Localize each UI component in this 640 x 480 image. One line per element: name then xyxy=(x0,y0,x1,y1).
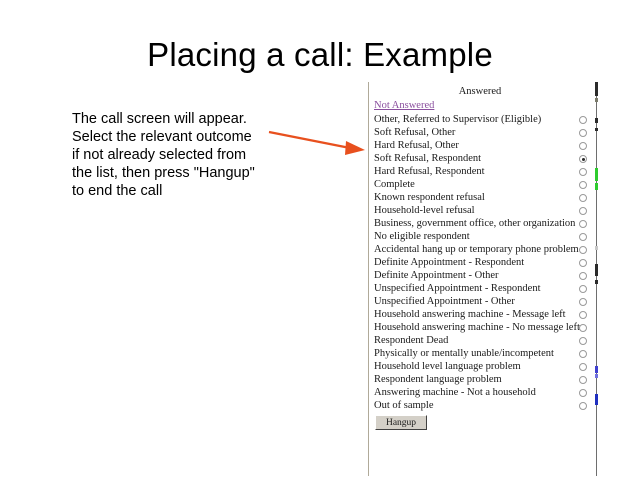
outcome-radio[interactable] xyxy=(579,337,587,345)
outcome-radio[interactable] xyxy=(579,402,587,410)
outcome-radio[interactable] xyxy=(579,350,587,358)
outcome-label: Respondent language problem xyxy=(374,373,502,386)
outcome-radio[interactable] xyxy=(579,376,587,384)
outcome-row[interactable]: Household level language problem xyxy=(369,360,597,373)
edge-fragment xyxy=(595,366,598,373)
outcome-radio[interactable] xyxy=(579,259,587,267)
edge-fragment xyxy=(595,118,598,123)
outcome-row[interactable]: Definite Appointment - Other xyxy=(369,269,597,282)
edge-fragment xyxy=(595,183,598,190)
outcome-label: Soft Refusal, Respondent xyxy=(374,152,481,165)
outcome-label: Other, Referred to Supervisor (Eligible) xyxy=(374,113,541,126)
outcome-radio[interactable] xyxy=(579,181,587,189)
outcome-row[interactable]: Other, Referred to Supervisor (Eligible) xyxy=(369,113,597,126)
outcome-radio[interactable] xyxy=(579,246,587,254)
outcome-row[interactable]: Household-level refusal xyxy=(369,204,597,217)
outcome-radio[interactable] xyxy=(579,363,587,371)
outcome-row[interactable]: Physically or mentally unable/incompeten… xyxy=(369,347,597,360)
outcome-radio[interactable] xyxy=(579,285,587,293)
outcome-radio[interactable] xyxy=(579,389,587,397)
outcome-row[interactable]: Respondent language problem xyxy=(369,373,597,386)
not-answered-link[interactable]: Not Answered xyxy=(374,100,434,111)
outcome-label: Physically or mentally unable/incompeten… xyxy=(374,347,554,360)
outcome-radio[interactable] xyxy=(579,116,587,124)
outcome-list: Other, Referred to Supervisor (Eligible)… xyxy=(369,113,597,412)
outcome-radio[interactable] xyxy=(579,324,587,332)
outcome-label: Known respondent refusal xyxy=(374,191,485,204)
pointer-arrow-icon xyxy=(266,124,368,158)
edge-fragment xyxy=(595,246,598,250)
outcome-row[interactable]: Business, government office, other organ… xyxy=(369,217,597,230)
instruction-line: the list, then press "Hangup" xyxy=(72,164,277,182)
outcome-label: Household answering machine - Message le… xyxy=(374,308,566,321)
outcome-radio[interactable] xyxy=(579,168,587,176)
outcome-label: Business, government office, other organ… xyxy=(374,217,575,230)
outcome-label: Unspecified Appointment - Respondent xyxy=(374,282,541,295)
instruction-line: to end the call xyxy=(72,182,277,200)
outcome-label: Respondent Dead xyxy=(374,334,448,347)
instruction-line: Select the relevant outcome xyxy=(72,128,277,146)
edge-fragment xyxy=(595,264,598,276)
outcome-label: Unspecified Appointment - Other xyxy=(374,295,515,308)
outcome-row[interactable]: Accidental hang up or temporary phone pr… xyxy=(369,243,597,256)
outcome-row[interactable]: Answering machine - Not a household xyxy=(369,386,597,399)
window-edge-strip xyxy=(595,82,598,476)
edge-fragment xyxy=(595,128,598,131)
outcome-row[interactable]: Household answering machine - No message… xyxy=(369,321,597,334)
outcome-radio[interactable] xyxy=(579,298,587,306)
outcome-row[interactable]: Soft Refusal, Respondent xyxy=(369,152,597,165)
outcome-radio-selected[interactable] xyxy=(579,155,587,163)
outcome-row[interactable]: Respondent Dead xyxy=(369,334,597,347)
outcome-row[interactable]: Unspecified Appointment - Other xyxy=(369,295,597,308)
outcome-radio[interactable] xyxy=(579,233,587,241)
outcome-row[interactable]: Hard Refusal, Respondent xyxy=(369,165,597,178)
edge-fragment xyxy=(595,82,598,96)
outcome-radio[interactable] xyxy=(579,129,587,137)
outcome-row[interactable]: Complete xyxy=(369,178,597,191)
outcome-label: Hard Refusal, Respondent xyxy=(374,165,485,178)
outcome-label: Hard Refusal, Other xyxy=(374,139,459,152)
hangup-button[interactable]: Hangup xyxy=(375,415,427,430)
outcome-row[interactable]: Hard Refusal, Other xyxy=(369,139,597,152)
outcome-label: Definite Appointment - Respondent xyxy=(374,256,524,269)
outcome-label: Household-level refusal xyxy=(374,204,475,217)
outcome-label: Household level language problem xyxy=(374,360,521,373)
outcome-row[interactable]: Soft Refusal, Other xyxy=(369,126,597,139)
answered-header: Answered xyxy=(369,86,591,97)
outcome-row[interactable]: Household answering machine - Message le… xyxy=(369,308,597,321)
edge-fragment xyxy=(595,394,598,405)
outcome-row[interactable]: Definite Appointment - Respondent xyxy=(369,256,597,269)
outcome-label: No eligible respondent xyxy=(374,230,470,243)
outcome-label: Complete xyxy=(374,178,415,191)
edge-fragment xyxy=(595,280,598,284)
outcome-radio[interactable] xyxy=(579,272,587,280)
outcome-radio[interactable] xyxy=(579,142,587,150)
edge-fragment xyxy=(595,98,598,102)
outcome-label: Soft Refusal, Other xyxy=(374,126,455,139)
outcome-label: Out of sample xyxy=(374,399,434,412)
page-title: Placing a call: Example xyxy=(0,36,640,74)
outcome-label: Accidental hang up or temporary phone pr… xyxy=(374,243,579,256)
outcome-row[interactable]: Out of sample xyxy=(369,399,597,412)
outcome-radio[interactable] xyxy=(579,311,587,319)
outcome-row[interactable]: No eligible respondent xyxy=(369,230,597,243)
instruction-line: The call screen will appear. xyxy=(72,110,277,128)
edge-fragment xyxy=(595,374,598,378)
outcome-radio[interactable] xyxy=(579,207,587,215)
outcome-label: Household answering machine - No message… xyxy=(374,321,580,334)
outcome-radio[interactable] xyxy=(579,194,587,202)
outcome-radio[interactable] xyxy=(579,220,587,228)
outcome-label: Definite Appointment - Other xyxy=(374,269,499,282)
outcome-label: Answering machine - Not a household xyxy=(374,386,536,399)
call-screen-panel: Answered Not Answered Other, Referred to… xyxy=(368,82,597,476)
outcome-row[interactable]: Unspecified Appointment - Respondent xyxy=(369,282,597,295)
outcome-row[interactable]: Known respondent refusal xyxy=(369,191,597,204)
edge-fragment xyxy=(595,168,598,181)
instruction-line: if not already selected from xyxy=(72,146,277,164)
instruction-text: The call screen will appear. Select the … xyxy=(72,110,277,200)
